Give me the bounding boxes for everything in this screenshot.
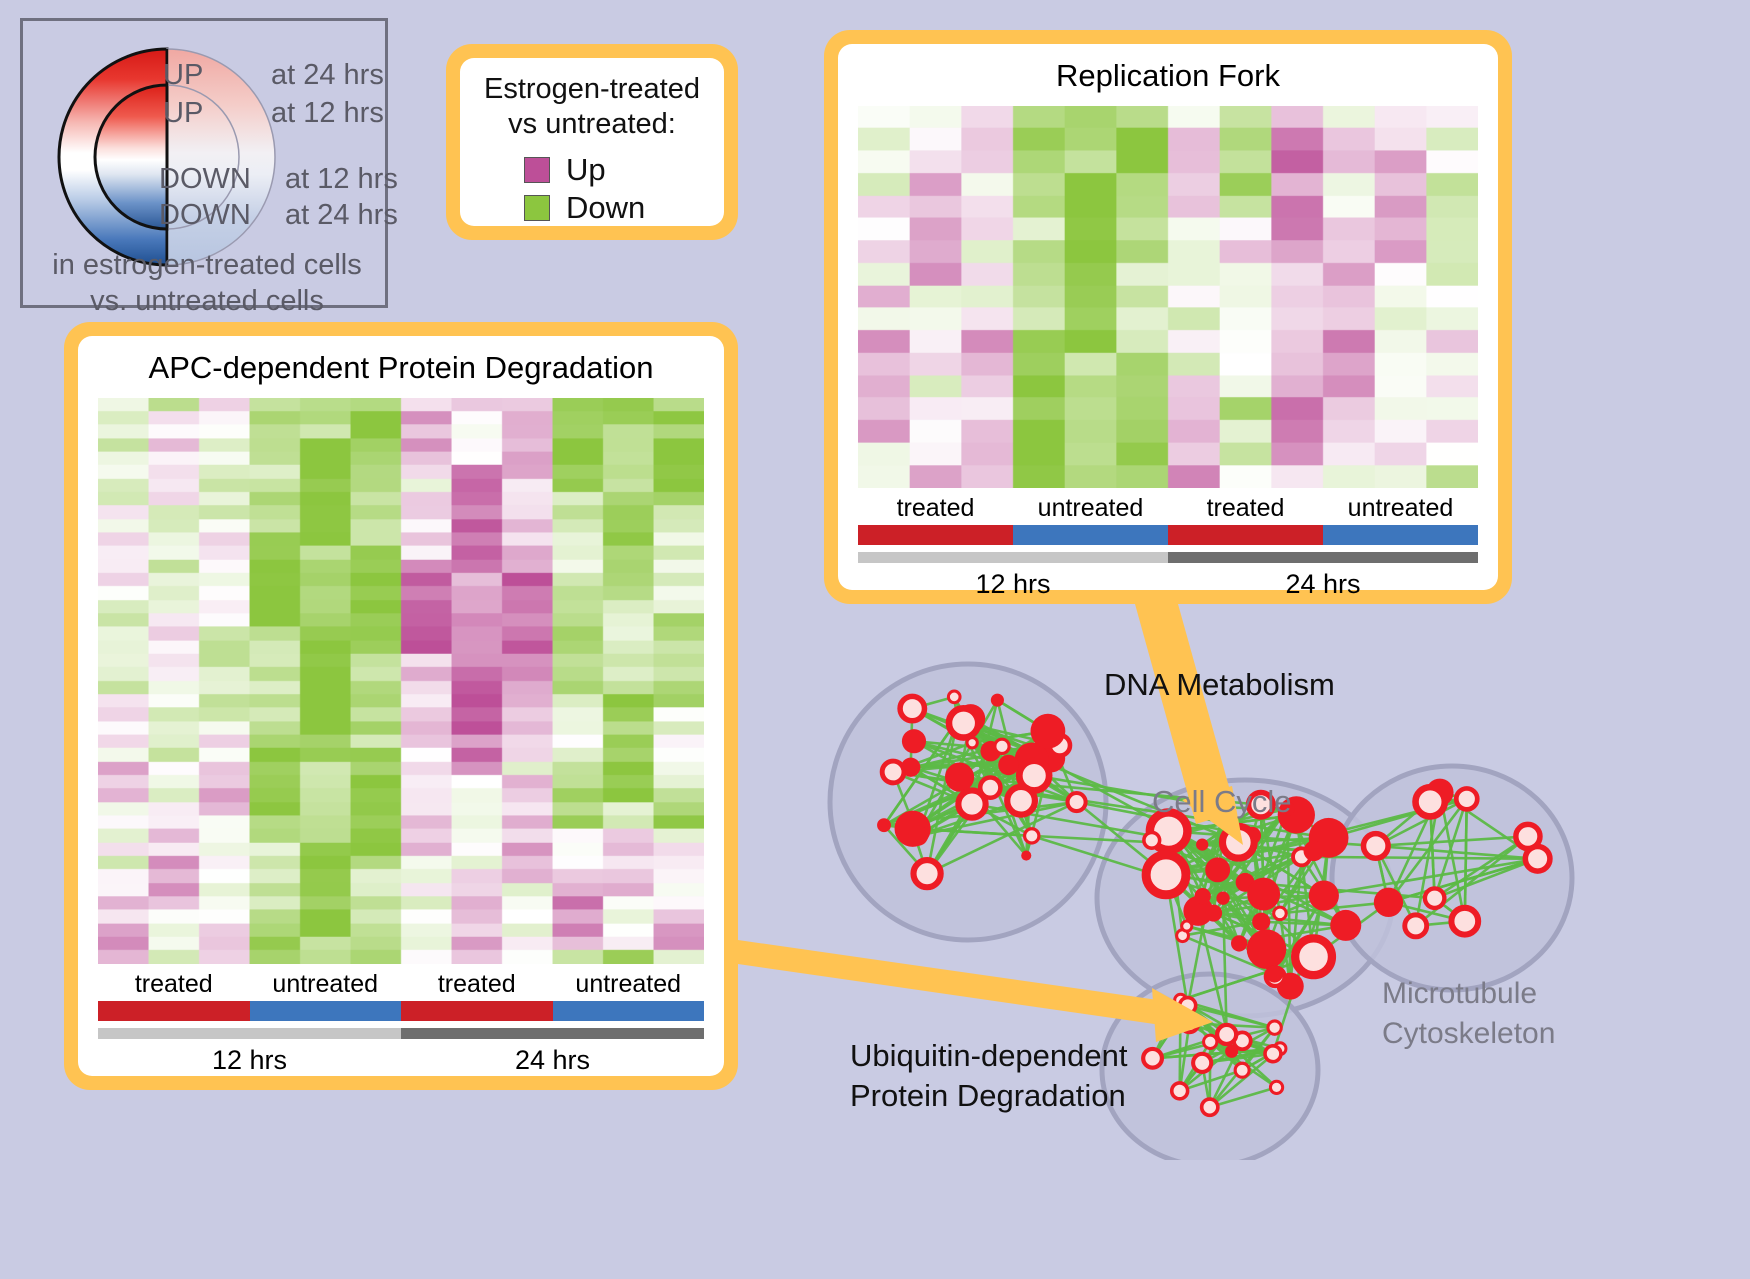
network-node (1068, 793, 1086, 811)
network-node (945, 763, 974, 792)
key-row-0-time: at 24 hrs (271, 59, 384, 92)
replication-fork-group-labels: treateduntreatedtreateduntreated (858, 494, 1478, 523)
cluster-label-cytoskeleton: Cytoskeleton (1382, 1017, 1555, 1051)
repl-time-segment-0 (858, 552, 1168, 563)
repl-treatment-segment-2 (1168, 525, 1323, 545)
repl-group-label-3: untreated (1323, 494, 1478, 523)
network-node (1182, 921, 1192, 931)
square-swatch-down-icon (524, 195, 550, 221)
repl-treatment-segment-0 (858, 525, 1013, 545)
network-node (1146, 855, 1186, 895)
legend-item-up: Up (524, 151, 724, 189)
estrogen-legend-title: Estrogen-treated vs untreated: (460, 72, 724, 143)
repl-group-label-1: untreated (1013, 494, 1168, 523)
network-node (1216, 892, 1229, 905)
key-row-3-state: DOWN (159, 199, 251, 232)
network-node (877, 818, 891, 832)
cluster-label-ubiquitin-line-2: Protein Degradation (850, 1078, 1126, 1114)
network-node (998, 755, 1018, 775)
network-node (1304, 841, 1325, 862)
network-node (1451, 908, 1478, 935)
network-node (1143, 1049, 1162, 1068)
apc-degradation-heatmap-region: treateduntreatedtreateduntreated 12 hrs2… (78, 398, 724, 1076)
repl-group-label-0: treated (858, 494, 1013, 523)
apc-degradation-treatment-bar (98, 1001, 704, 1021)
repl-time-segment-1 (1168, 552, 1478, 563)
network-node (958, 790, 985, 817)
square-swatch-up-icon (524, 157, 550, 183)
key-row-0-state: UP (163, 59, 203, 92)
apc-degradation-panel: APC-dependent Protein Degradation treate… (64, 322, 738, 1090)
network-node (1268, 1021, 1281, 1034)
apc-group-label-2: treated (401, 970, 553, 999)
replication-fork-panel: Replication Fork treateduntreatedtreated… (824, 30, 1512, 604)
apc-degradation-time-labels: 12 hrs24 hrs (98, 1045, 704, 1076)
network-node (1180, 998, 1196, 1014)
replication-fork-heatmap-region: treateduntreatedtreateduntreated 12 hrs2… (838, 106, 1498, 600)
network-node (1416, 787, 1445, 816)
apc-degradation-group-labels: treateduntreatedtreateduntreated (98, 970, 704, 999)
apc-treatment-segment-1 (250, 1001, 402, 1021)
network-node (1180, 1014, 1198, 1032)
apc-time-label-0: 12 hrs (98, 1045, 401, 1076)
apc-group-label-3: untreated (553, 970, 705, 999)
network-node (1205, 857, 1230, 882)
network-node (995, 739, 1009, 753)
network-node (901, 758, 920, 777)
network-node (1270, 1081, 1282, 1093)
repl-group-label-2: treated (1168, 494, 1323, 523)
network-node (1265, 1046, 1281, 1062)
apc-time-segment-1 (401, 1028, 704, 1039)
network-node (1266, 965, 1283, 982)
network-node (1231, 935, 1247, 951)
replication-fork-time-bar (858, 552, 1478, 563)
replication-fork-inner: Replication Fork treateduntreatedtreated… (838, 44, 1498, 590)
apc-time-segment-0 (98, 1028, 401, 1039)
apc-group-label-1: untreated (250, 970, 402, 999)
network-node (1194, 888, 1210, 904)
repl-time-label-0: 12 hrs (858, 569, 1168, 600)
network-node (1309, 881, 1339, 911)
key-row-2-time: at 12 hrs (285, 163, 398, 196)
network-node (1217, 1025, 1236, 1044)
replication-fork-heatmap (858, 106, 1478, 488)
network-node (1247, 878, 1280, 911)
network-node (1031, 714, 1066, 749)
apc-time-label-1: 24 hrs (401, 1045, 704, 1076)
network-node (1025, 829, 1039, 843)
repl-treatment-segment-1 (1013, 525, 1168, 545)
network-node (1456, 788, 1477, 809)
network-node (882, 761, 904, 783)
estrogen-legend-title-line-1: Estrogen-treated (468, 72, 716, 107)
estrogen-legend-panel: Estrogen-treated vs untreated: Up Down (446, 44, 738, 240)
network-node (1405, 915, 1427, 937)
cluster-label-ubiquitin-line-1: Ubiquitin-dependent (850, 1038, 1128, 1074)
cluster-label-microtubule: Microtubule (1382, 977, 1537, 1011)
network-node (1516, 824, 1540, 848)
replication-fork-treatment-bar (858, 525, 1478, 545)
network-node (991, 694, 1004, 707)
repl-time-label-1: 24 hrs (1168, 569, 1478, 600)
network-node (1172, 1083, 1188, 1099)
apc-degradation-title: APC-dependent Protein Degradation (78, 336, 724, 386)
legend-item-up-label: Up (566, 152, 606, 188)
network-node (1196, 838, 1208, 850)
network-node (1295, 938, 1332, 975)
network-node (1425, 888, 1444, 907)
apc-treatment-segment-0 (98, 1001, 250, 1021)
legend-item-down-label: Down (566, 190, 645, 226)
network-node (1202, 1099, 1218, 1115)
apc-degradation-heatmap (98, 398, 704, 964)
cluster-label-dna-metabolism: DNA Metabolism (1104, 667, 1335, 703)
network-node (1330, 910, 1361, 941)
apc-treatment-segment-3 (553, 1001, 705, 1021)
network-node (908, 826, 928, 846)
network-node (1021, 851, 1031, 861)
estrogen-legend-title-line-2: vs untreated: (468, 107, 716, 142)
network-node (1205, 905, 1222, 922)
network-node (1225, 1045, 1238, 1058)
key-row-2-state: DOWN (159, 163, 251, 196)
key-caption-line-2: vs. untreated cells (23, 285, 391, 318)
apc-degradation-inner: APC-dependent Protein Degradation treate… (78, 336, 724, 1076)
network-node (913, 860, 940, 887)
network-node (1235, 1063, 1249, 1077)
estrogen-legend-inner: Estrogen-treated vs untreated: Up Down (460, 58, 724, 226)
network-node (1144, 832, 1160, 848)
network-node (902, 729, 926, 753)
key-row-3-time: at 24 hrs (285, 199, 398, 232)
key-row-1-state: UP (163, 97, 203, 130)
network-node (1252, 913, 1270, 931)
apc-treatment-segment-2 (401, 1001, 553, 1021)
apc-degradation-time-bar (98, 1028, 704, 1039)
network-node (1247, 929, 1287, 969)
network-node (948, 691, 960, 703)
network-node (1363, 834, 1388, 859)
network-node (1374, 888, 1403, 917)
key-row-1-time: at 12 hrs (271, 97, 384, 130)
network-node (949, 708, 978, 737)
network-node (1222, 826, 1254, 858)
expression-key-legend: UP at 24 hrs UP at 12 hrs DOWN at 12 hrs… (20, 18, 388, 308)
network-node (1007, 787, 1035, 815)
repl-treatment-segment-3 (1323, 525, 1478, 545)
estrogen-legend-items: Up Down (460, 151, 724, 227)
legend-item-down: Down (524, 189, 724, 227)
cluster-label-cell-cycle: Cell Cycle (1152, 784, 1292, 820)
network-node (1204, 1035, 1217, 1048)
replication-fork-time-labels: 12 hrs24 hrs (858, 569, 1478, 600)
network-node (900, 696, 924, 720)
replication-fork-title: Replication Fork (838, 44, 1498, 94)
apc-group-label-0: treated (98, 970, 250, 999)
network-node (1193, 1054, 1211, 1072)
network-node (1274, 907, 1287, 920)
key-caption-line-1: in estrogen-treated cells (23, 249, 391, 282)
